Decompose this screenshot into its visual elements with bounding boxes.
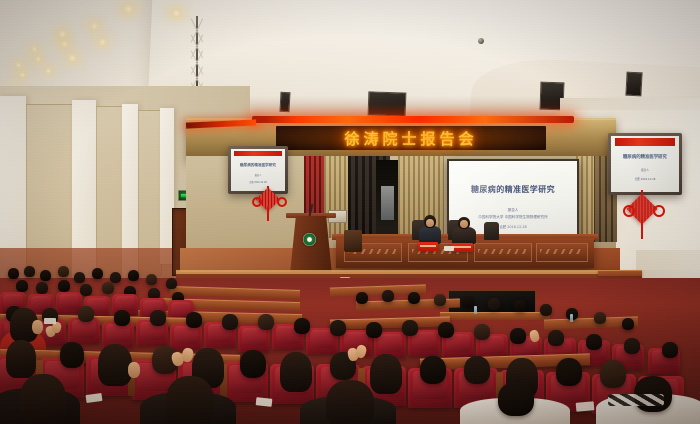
audience-head — [8, 268, 19, 279]
foreground-hair — [166, 376, 214, 424]
audience-head — [382, 290, 394, 302]
downlight — [14, 62, 23, 68]
audience-head — [36, 282, 48, 294]
red-cove-light-strip — [252, 116, 574, 123]
audience-head — [58, 266, 69, 277]
foreground-head — [498, 382, 534, 416]
downlight — [44, 68, 53, 74]
audience-paper — [256, 397, 273, 407]
audience-head — [110, 272, 121, 283]
audience-head — [146, 274, 157, 285]
audience-head — [474, 324, 490, 340]
downlight — [88, 22, 101, 30]
foreground-hair — [20, 374, 66, 424]
audience-head — [114, 310, 130, 326]
table-zigzag — [540, 249, 582, 254]
audience-head — [356, 292, 368, 304]
audience-hair — [6, 340, 36, 378]
knot-loop — [277, 197, 287, 207]
audience-head — [402, 320, 418, 336]
audience-hair — [98, 344, 132, 386]
knot-loop — [252, 197, 262, 207]
podium-emblem-icon — [303, 233, 316, 246]
audience-head — [438, 322, 454, 338]
audience-head — [622, 318, 634, 330]
knot-tassel — [267, 207, 269, 221]
right-monitor-title: 糖尿病的精准医学研究 — [611, 154, 679, 160]
water-bottle — [570, 314, 573, 322]
name-card — [418, 242, 438, 251]
downlight — [168, 8, 185, 18]
audience-head — [464, 356, 490, 384]
audience-head — [624, 338, 640, 354]
audience-head — [462, 296, 474, 308]
slide-title: 糖尿病的精准医学研究 — [449, 184, 577, 195]
audience-face — [32, 320, 43, 334]
downlight — [66, 54, 79, 62]
led-banner: 徐涛院士报告会 — [276, 126, 546, 150]
stage-curtain-gold — [324, 156, 348, 238]
audience-head — [80, 284, 92, 296]
audience-head — [74, 272, 85, 283]
knot-tassel — [641, 219, 643, 239]
audience-head — [40, 270, 51, 281]
stage-trim — [176, 270, 626, 272]
audience-head — [548, 330, 564, 346]
audience-head — [222, 314, 238, 330]
audience-head — [586, 334, 602, 350]
audience-hair — [280, 352, 312, 392]
right-monitor-banner — [615, 138, 675, 145]
auditorium-photo: 徐涛院士报告会 糖尿病的精准医学研究 报告人 中国科学院大学 中国科学院生物物理… — [0, 0, 700, 424]
stage-side-cabinet — [344, 230, 362, 252]
stage-chair — [484, 222, 499, 240]
downlight — [30, 46, 39, 52]
backstage-light — [381, 186, 394, 220]
downlight — [56, 30, 69, 38]
audience-desk-far — [440, 312, 550, 320]
audience-head — [366, 322, 382, 338]
right-monitor-sub: 报告人 — [611, 168, 679, 172]
audience-head — [510, 328, 526, 344]
audience-head — [662, 342, 678, 358]
left-monitor-screen: 糖尿病的精准医学研究 报告人 合肥 2016.12.28 — [231, 149, 285, 191]
audience-head — [16, 280, 28, 292]
audience-head — [600, 360, 626, 388]
knot-loop — [623, 205, 635, 217]
audience-head — [420, 356, 446, 384]
audience-head — [78, 306, 94, 322]
ceiling-speaker-panel — [368, 91, 407, 116]
audience-head — [330, 320, 346, 336]
stage-person-face — [460, 220, 468, 228]
led-banner-text: 徐涛院士报告会 — [344, 128, 477, 149]
audience-hair — [370, 354, 402, 394]
ceiling-speaker-panel — [279, 92, 290, 112]
audience-head — [240, 350, 266, 378]
water-bottle — [474, 306, 477, 314]
scarf — [608, 394, 664, 406]
audience-head — [102, 282, 114, 294]
left-monitor-banner — [234, 151, 282, 156]
audience-head — [514, 300, 526, 312]
audience-head — [60, 342, 84, 368]
left-monitor-title: 糖尿病的精准医学研究 — [231, 163, 285, 168]
name-card — [451, 243, 473, 252]
audience-head — [150, 310, 166, 326]
right-monitor-note: 合肥 2016.12.28 — [611, 177, 679, 181]
audience-paper — [576, 401, 595, 412]
ceiling-speaker-panel — [625, 72, 642, 97]
audience-head — [92, 268, 103, 279]
audience-head — [58, 280, 70, 292]
audience-head — [540, 304, 552, 316]
left-monitor-sub: 报告人 — [231, 173, 285, 177]
table-zigzag — [478, 249, 526, 254]
downlight — [34, 56, 43, 62]
foreground-hair — [326, 380, 374, 424]
audience-head — [24, 266, 35, 277]
audience-face — [128, 362, 140, 378]
downlight — [120, 4, 137, 14]
table-paper — [444, 246, 454, 251]
audience-head — [594, 312, 606, 324]
audience-head — [294, 318, 310, 334]
right-wall-monitor: 糖尿病的精准医学研究 报告人 合肥 2016.12.28 — [608, 133, 682, 195]
audience-head — [488, 298, 500, 310]
audience-head — [408, 292, 420, 304]
chinese-knot-left — [253, 186, 283, 228]
knot-loop — [653, 205, 665, 217]
audience-head — [186, 312, 202, 328]
audience-head — [128, 270, 139, 281]
downlight — [18, 72, 27, 78]
right-monitor-screen: 糖尿病的精准医学研究 报告人 合肥 2016.12.28 — [611, 136, 679, 192]
audience-paper — [44, 318, 56, 324]
stage-person-body — [452, 227, 476, 244]
downlight — [58, 40, 71, 48]
audience-head — [556, 358, 582, 386]
left-monitor-note: 合肥 2016.12.28 — [231, 180, 285, 184]
chinese-knot-right — [624, 190, 660, 244]
downlight — [96, 38, 109, 46]
audience-seat[interactable] — [170, 324, 202, 350]
security-camera-icon — [478, 38, 484, 44]
audience-head — [258, 314, 274, 330]
audience-head — [434, 294, 446, 306]
stage-person-face — [426, 219, 434, 227]
slide-presenter-label: 报告人 — [449, 208, 577, 213]
audience-head — [166, 278, 177, 289]
